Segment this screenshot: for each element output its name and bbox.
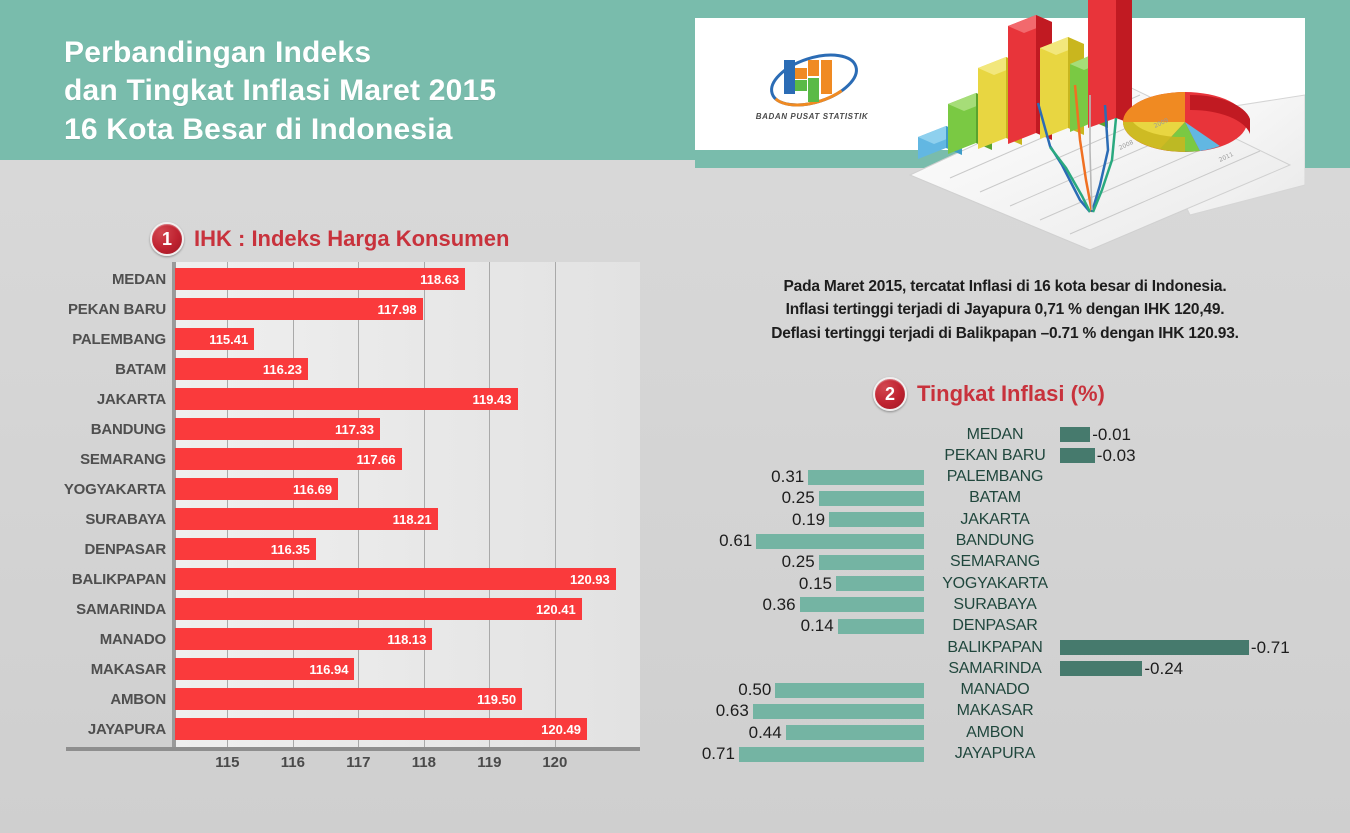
ihk-bar: 119.50: [175, 688, 522, 710]
ihk-tick-label: 116: [271, 754, 315, 771]
inflasi-bar-row: SEMARANG0.25: [670, 552, 1330, 573]
ihk-value-label: 120.93: [570, 572, 616, 587]
inflasi-bar-row: MEDAN-0.01: [670, 424, 1330, 445]
ihk-bar-row: YOGYAKARTA116.69: [62, 474, 640, 504]
inflasi-value-label: -0.03: [1097, 445, 1136, 466]
ihk-value-label: 118.21: [393, 512, 438, 527]
inflasi-bar-chart: MEDAN-0.01PEKAN BARU-0.03PALEMBANG0.31BA…: [670, 424, 1330, 769]
ihk-category-label: PEKAN BARU: [62, 294, 166, 324]
ihk-category-label: MANADO: [62, 624, 166, 654]
inflasi-value-label: 0.36: [670, 594, 796, 615]
inflasi-bar-row: BATAM0.25: [670, 488, 1330, 509]
inflasi-bar-row: SAMARINDA-0.24: [670, 658, 1330, 679]
inflasi-category-label: BATAM: [925, 488, 1065, 509]
ihk-bar: 115.41: [175, 328, 254, 350]
ihk-bar-row: PALEMBANG115.41: [62, 324, 640, 354]
inflasi-value-label: -0.24: [1144, 658, 1183, 679]
inflasi-positive-bar: [836, 576, 924, 591]
ihk-bar: 116.69: [175, 478, 338, 500]
inflasi-bar-row: BANDUNG0.61: [670, 531, 1330, 552]
inflasi-value-label: 0.15: [670, 573, 832, 594]
ihk-bar: 118.63: [175, 268, 465, 290]
inflasi-value-label: 0.25: [670, 488, 815, 509]
inflasi-positive-bar: [819, 491, 924, 506]
inflasi-category-label: MANADO: [925, 680, 1065, 701]
section-1-heading: 1 IHK : Indeks Harga Konsumen: [150, 222, 509, 256]
ihk-bar: 117.33: [175, 418, 380, 440]
ihk-category-label: YOGYAKARTA: [62, 474, 166, 504]
inflasi-category-label: JAKARTA: [925, 509, 1065, 530]
inflasi-bar-row: MAKASAR0.63: [670, 701, 1330, 722]
inflasi-value-label: 0.14: [670, 616, 834, 637]
inflasi-category-label: MAKASAR: [925, 701, 1065, 722]
ihk-bar-row: BATAM116.23: [62, 354, 640, 384]
inflasi-bar-row: JAKARTA0.19: [670, 509, 1330, 530]
inflasi-value-label: -0.01: [1092, 424, 1131, 445]
inflasi-category-label: SAMARINDA: [925, 658, 1065, 679]
chart-illustration: 2008 2009 2011: [890, 0, 1305, 250]
inflasi-positive-bar: [808, 470, 924, 485]
ihk-x-axis: [66, 747, 640, 751]
bps-logo-caption: BADAN PUSAT STATISTIK: [722, 112, 902, 121]
ihk-category-label: SAMARINDA: [62, 594, 166, 624]
chart-illustration-graphic: 2008 2009 2011: [890, 0, 1305, 250]
ihk-bar-row: MEDAN118.63: [62, 264, 640, 294]
summary-line-3: Deflasi tertinggi terjadi di Balikpapan …: [700, 322, 1310, 345]
section-1-badge: 1: [150, 222, 184, 256]
inflasi-value-label: -0.71: [1251, 637, 1290, 658]
inflasi-positive-bar: [775, 683, 924, 698]
ihk-tick-label: 115: [205, 754, 249, 771]
inflasi-category-label: BANDUNG: [925, 531, 1065, 552]
ihk-category-label: DENPASAR: [62, 534, 166, 564]
ihk-value-label: 119.43: [472, 392, 517, 407]
inflasi-negative-bar: [1060, 640, 1249, 655]
ihk-bar: 117.98: [175, 298, 423, 320]
ihk-value-label: 119.50: [477, 692, 522, 707]
ihk-category-label: JAKARTA: [62, 384, 166, 414]
inflasi-category-label: SEMARANG: [925, 552, 1065, 573]
ihk-bar-row: JAYAPURA120.49: [62, 714, 640, 744]
title-line-3: 16 Kota Besar di Indonesia: [64, 111, 684, 149]
inflasi-value-label: 0.19: [670, 509, 825, 530]
inflasi-negative-bar: [1060, 427, 1090, 442]
ihk-bar-row: DENPASAR116.35: [62, 534, 640, 564]
inflasi-positive-bar: [800, 597, 924, 612]
inflasi-bar-row: DENPASAR0.14: [670, 616, 1330, 637]
title-line-1: Perbandingan Indeks: [64, 34, 684, 72]
ihk-category-label: MEDAN: [62, 264, 166, 294]
ihk-bar-row: SAMARINDA120.41: [62, 594, 640, 624]
inflasi-positive-bar: [786, 725, 924, 740]
ihk-bar: 118.13: [175, 628, 432, 650]
summary-line-2: Inflasi tertinggi terjadi di Jayapura 0,…: [700, 298, 1310, 321]
header-teal-right-edge: [1305, 0, 1350, 168]
ihk-bar-row: AMBON119.50: [62, 684, 640, 714]
bps-logo-icon: [722, 50, 902, 112]
ihk-category-label: SEMARANG: [62, 444, 166, 474]
ihk-value-label: 115.41: [209, 332, 254, 347]
inflasi-bar-row: BALIKPAPAN-0.71: [670, 637, 1330, 658]
ihk-value-label: 120.49: [541, 722, 587, 737]
ihk-category-label: MAKASAR: [62, 654, 166, 684]
ihk-bar: 117.66: [175, 448, 402, 470]
page-title: Perbandingan Indeks dan Tingkat Inflasi …: [64, 34, 684, 149]
inflasi-category-label: YOGYAKARTA: [925, 573, 1065, 594]
ihk-category-label: SURABAYA: [62, 504, 166, 534]
inflasi-category-label: AMBON: [925, 722, 1065, 743]
inflasi-positive-bar: [753, 704, 924, 719]
ihk-bar-row: MAKASAR116.94: [62, 654, 640, 684]
inflasi-bar-row: AMBON0.44: [670, 722, 1330, 743]
inflasi-positive-bar: [756, 534, 924, 549]
inflasi-value-label: 0.61: [670, 531, 752, 552]
inflasi-bar-row: PALEMBANG0.31: [670, 467, 1330, 488]
ihk-tick-label: 120: [533, 754, 577, 771]
summary-line-1: Pada Maret 2015, tercatat Inflasi di 16 …: [700, 275, 1310, 298]
ihk-value-label: 116.69: [293, 482, 338, 497]
ihk-category-label: JAYAPURA: [62, 714, 166, 744]
inflasi-negative-bar: [1060, 661, 1142, 676]
ihk-value-label: 116.35: [271, 542, 316, 557]
inflasi-negative-bar: [1060, 448, 1095, 463]
ihk-bar: 116.94: [175, 658, 354, 680]
ihk-tick-label: 117: [336, 754, 380, 771]
inflasi-category-label: BALIKPAPAN: [925, 637, 1065, 658]
inflasi-bar-row: JAYAPURA0.71: [670, 744, 1330, 765]
ihk-bar: 118.21: [175, 508, 438, 530]
summary-text: Pada Maret 2015, tercatat Inflasi di 16 …: [700, 275, 1310, 345]
ihk-category-label: BALIKPAPAN: [62, 564, 166, 594]
ihk-bar-row: MANADO118.13: [62, 624, 640, 654]
ihk-bar-row: JAKARTA119.43: [62, 384, 640, 414]
ihk-value-label: 120.41: [536, 602, 582, 617]
ihk-tick-label: 119: [467, 754, 511, 771]
ihk-bar: 119.43: [175, 388, 518, 410]
ihk-value-label: 118.13: [387, 632, 432, 647]
section-2-label: Tingkat Inflasi (%): [917, 381, 1105, 407]
ihk-bar-row: PEKAN BARU117.98: [62, 294, 640, 324]
inflasi-value-label: 0.63: [670, 701, 749, 722]
section-2-badge: 2: [873, 377, 907, 411]
ihk-category-label: BANDUNG: [62, 414, 166, 444]
inflasi-bar-row: PEKAN BARU-0.03: [670, 445, 1330, 466]
inflasi-value-label: 0.44: [670, 722, 782, 743]
inflasi-positive-bar: [838, 619, 924, 634]
ihk-value-label: 117.66: [357, 452, 402, 467]
inflasi-value-label: 0.25: [670, 552, 815, 573]
section-1-label: IHK : Indeks Harga Konsumen: [194, 226, 509, 252]
ihk-bar-row: SURABAYA118.21: [62, 504, 640, 534]
ihk-category-label: BATAM: [62, 354, 166, 384]
inflasi-category-label: DENPASAR: [925, 616, 1065, 637]
inflasi-category-label: JAYAPURA: [925, 744, 1065, 765]
bps-logo: BADAN PUSAT STATISTIK: [722, 50, 902, 134]
ihk-bar: 120.49: [175, 718, 587, 740]
ihk-value-label: 116.94: [309, 662, 354, 677]
ihk-value-label: 116.23: [263, 362, 308, 377]
inflasi-positive-bar: [739, 747, 924, 762]
inflasi-category-label: SURABAYA: [925, 594, 1065, 615]
ihk-value-label: 117.98: [378, 302, 423, 317]
ihk-category-label: AMBON: [62, 684, 166, 714]
inflasi-value-label: 0.71: [670, 744, 735, 765]
inflasi-bar-row: YOGYAKARTA0.15: [670, 573, 1330, 594]
ihk-bar: 120.93: [175, 568, 616, 590]
ihk-bar: 120.41: [175, 598, 582, 620]
ihk-bar: 116.35: [175, 538, 316, 560]
title-line-2: dan Tingkat Inflasi Maret 2015: [64, 72, 684, 110]
inflasi-value-label: 0.31: [670, 467, 804, 488]
ihk-value-label: 118.63: [420, 272, 465, 287]
ihk-bar-row: BALIKPAPAN120.93: [62, 564, 640, 594]
ihk-value-label: 117.33: [335, 422, 380, 437]
ihk-bar-chart: MEDAN118.63PEKAN BARU117.98PALEMBANG115.…: [62, 262, 640, 772]
infographic-canvas: Perbandingan Indeks dan Tingkat Inflasi …: [0, 0, 1350, 833]
ihk-bar-row: SEMARANG117.66: [62, 444, 640, 474]
ihk-tick-label: 118: [402, 754, 446, 771]
ihk-bar-row: BANDUNG117.33: [62, 414, 640, 444]
ihk-category-label: PALEMBANG: [62, 324, 166, 354]
inflasi-category-label: MEDAN: [925, 424, 1065, 445]
inflasi-bar-row: MANADO0.50: [670, 680, 1330, 701]
inflasi-value-label: 0.50: [670, 680, 771, 701]
inflasi-category-label: PEKAN BARU: [925, 445, 1065, 466]
inflasi-bar-row: SURABAYA0.36: [670, 594, 1330, 615]
inflasi-positive-bar: [829, 512, 924, 527]
inflasi-positive-bar: [819, 555, 924, 570]
section-2-heading: 2 Tingkat Inflasi (%): [873, 377, 1105, 411]
ihk-bar: 116.23: [175, 358, 308, 380]
inflasi-category-label: PALEMBANG: [925, 467, 1065, 488]
